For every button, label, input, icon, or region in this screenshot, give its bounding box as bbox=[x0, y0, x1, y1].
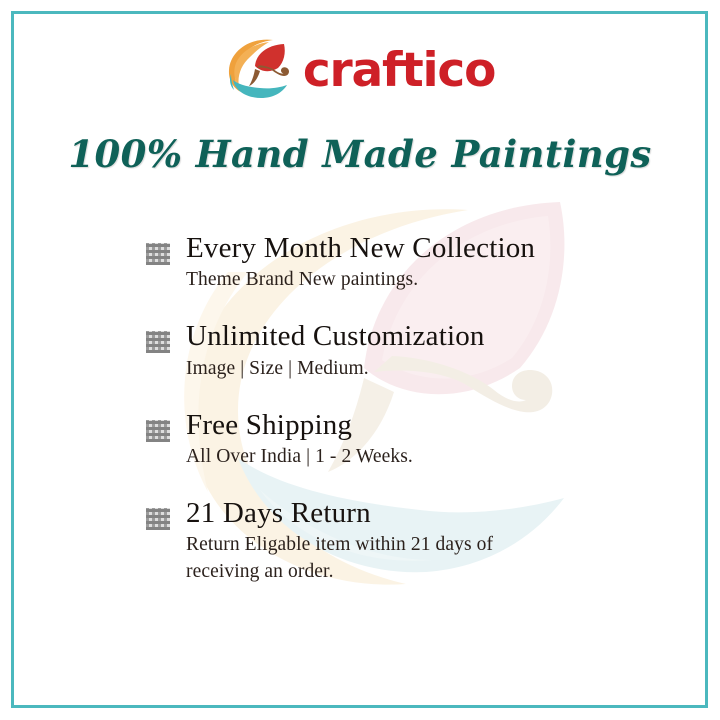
craftico-paintbrush-c-logo-icon bbox=[225, 36, 293, 100]
feature-subtitle: Image | Size | Medium. bbox=[186, 356, 616, 383]
feature-title: Free Shipping bbox=[186, 409, 616, 442]
feature-item: Free Shipping All Over India | 1 - 2 Wee… bbox=[146, 409, 616, 471]
brand-logo: craftico bbox=[0, 32, 720, 104]
feature-item: 21 Days Return Return Eligable item with… bbox=[146, 497, 616, 586]
feature-title: Every Month New Collection bbox=[186, 232, 616, 265]
woven-weave-square-icon bbox=[146, 331, 170, 353]
feature-subtitle: All Over India | 1 - 2 Weeks. bbox=[186, 444, 616, 471]
feature-subtitle: Theme Brand New paintings. bbox=[186, 267, 616, 294]
brand-name: craftico bbox=[303, 47, 495, 94]
promo-banner: craftico 100% Hand Made Paintings Every … bbox=[0, 0, 720, 720]
woven-weave-square-icon bbox=[146, 508, 170, 530]
feature-title: Unlimited Customization bbox=[186, 320, 616, 353]
feature-list: Every Month New Collection Theme Brand N… bbox=[146, 232, 616, 586]
woven-weave-square-icon bbox=[146, 420, 170, 442]
woven-weave-square-icon bbox=[146, 243, 170, 265]
feature-item: Every Month New Collection Theme Brand N… bbox=[146, 232, 616, 294]
feature-title: 21 Days Return bbox=[186, 497, 616, 530]
feature-item: Unlimited Customization Image | Size | M… bbox=[146, 320, 616, 382]
tagline: 100% Hand Made Paintings bbox=[0, 132, 720, 176]
feature-subtitle: Return Eligable item within 21 days of r… bbox=[186, 532, 536, 586]
